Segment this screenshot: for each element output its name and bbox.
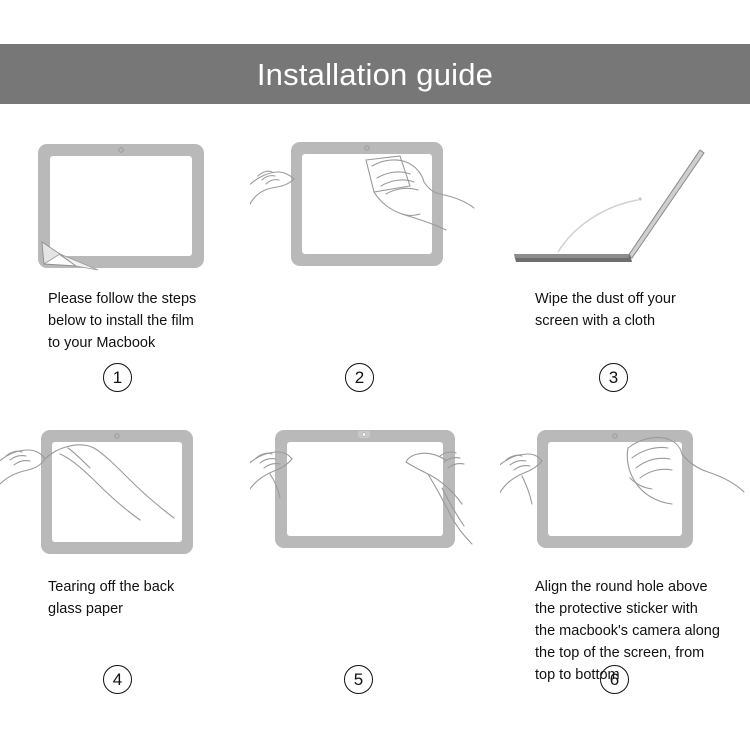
header-band: Installation guide: [0, 44, 750, 104]
step-badge-4-label: 4: [113, 671, 122, 688]
step-badge-2-label: 2: [355, 369, 364, 386]
left-hand-6: [500, 454, 542, 504]
step-2-illustration: [250, 130, 500, 280]
step-card-2: Wipe the dust off your screen with a clo…: [250, 130, 500, 410]
step-badge-1: 1: [103, 363, 132, 392]
step-badge-6-label: 6: [610, 671, 619, 688]
step-3-illustration: [500, 130, 750, 280]
step-1-caption: Please follow the steps below to install…: [48, 288, 238, 354]
step-badge-1-label: 1: [113, 369, 122, 386]
step-5-illustration: [250, 418, 500, 568]
step-badge-3-label: 3: [609, 369, 618, 386]
step-1-illustration: [0, 130, 250, 280]
step-badge-2: 2: [345, 363, 374, 392]
laptop-base-3: [514, 254, 632, 262]
angle-arc-3: [558, 200, 638, 252]
page-title: Installation guide: [257, 59, 493, 90]
step-4-caption: Tearing off the back glass paper: [48, 576, 238, 620]
step-card-5: Align the round hole above the protectiv…: [250, 418, 500, 698]
step-card-6: Lightly press the four sides of the scre…: [500, 418, 750, 698]
left-hand-2: [250, 171, 294, 216]
step-6-illustration: [500, 418, 750, 568]
step-badge-3: 3: [599, 363, 628, 392]
step-badge-6: 6: [600, 665, 629, 694]
laptop-lid-3: [628, 150, 704, 258]
step-badge-5: 5: [344, 665, 373, 694]
step-card-4: Tearing off the back glass paper: [0, 418, 250, 698]
step-badge-5-label: 5: [354, 671, 363, 688]
step-4-illustration: [0, 418, 250, 568]
step-badge-4: 4: [103, 665, 132, 694]
